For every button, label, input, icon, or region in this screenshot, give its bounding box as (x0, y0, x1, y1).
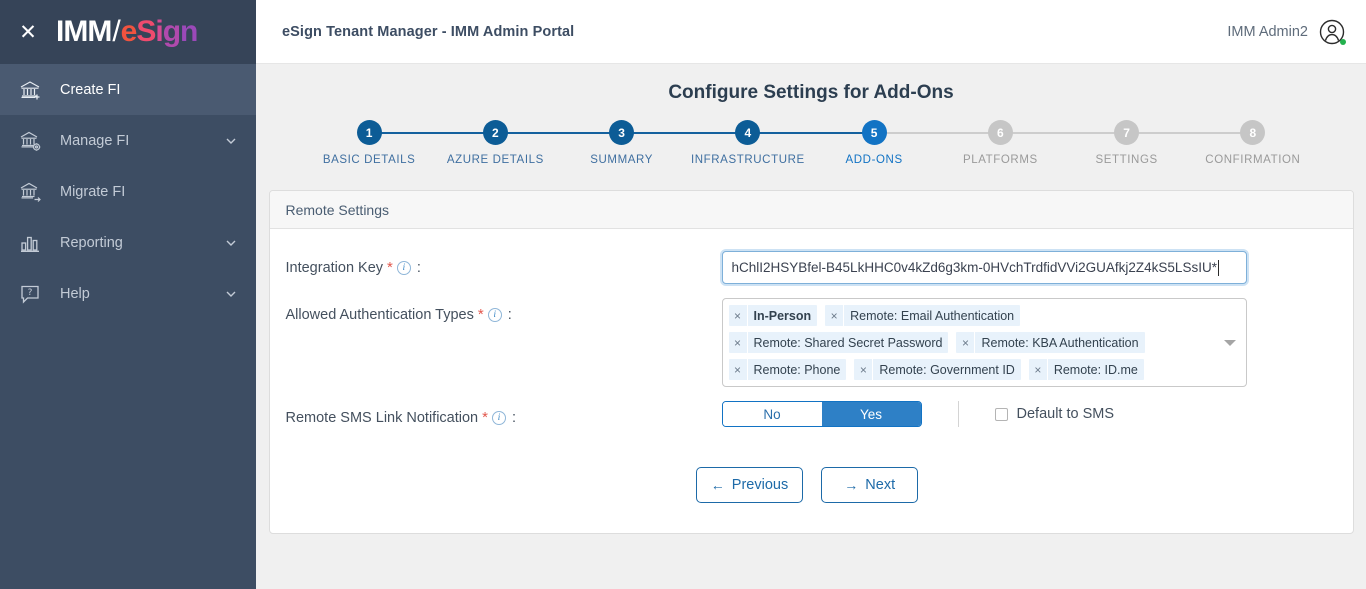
default-to-sms-checkbox[interactable] (995, 408, 1008, 421)
chevron-down-icon[interactable] (224, 134, 238, 148)
tag-item[interactable]: × Remote: Government ID (854, 359, 1020, 380)
form-row-auth-types: Allowed Authentication Types * i : × In-… (286, 298, 1329, 387)
label-colon: : (417, 260, 421, 276)
brand-logo: IMM/eSign (56, 17, 197, 47)
step-settings[interactable]: 7 SETTINGS (1064, 120, 1190, 166)
tag-label: Remote: Phone (747, 359, 847, 380)
auth-types-tag-list: × In-Person × Remote: Email Authenticati… (729, 305, 1218, 380)
sidebar-item-label: Migrate FI (60, 184, 238, 200)
step-basic-details[interactable]: 1 BASIC DETAILS (306, 120, 432, 166)
status-dot (1340, 39, 1346, 45)
step-number[interactable]: 4 (735, 120, 760, 145)
text-caret (1218, 260, 1219, 276)
previous-button-label: Previous (732, 477, 788, 493)
chevron-down-icon[interactable] (224, 236, 238, 250)
step-label: CONFIRMATION (1190, 154, 1316, 166)
sidebar-item-help[interactable]: ? Help (0, 268, 256, 319)
step-label: AZURE DETAILS (432, 154, 558, 166)
integration-key-input[interactable]: hChlI2HSYBfel-B45LkHHC0v4kZd6g3km-0HVchT… (722, 251, 1247, 284)
required-marker: * (477, 306, 485, 323)
tag-item[interactable]: × Remote: Email Authentication (825, 305, 1020, 326)
topbar-user-area: IMM Admin2 (1227, 18, 1346, 46)
tag-label: Remote: Government ID (872, 359, 1020, 380)
user-name-label: IMM Admin2 (1227, 24, 1308, 40)
brand-i: i (155, 17, 162, 47)
app-title: eSign Tenant Manager - IMM Admin Portal (282, 24, 574, 40)
info-icon[interactable]: i (488, 308, 502, 322)
sidebar: ✕ IMM/eSign Create FI (0, 0, 256, 589)
brand-e: e (121, 17, 137, 47)
step-confirmation[interactable]: 8 CONFIRMATION (1190, 120, 1316, 166)
step-label: BASIC DETAILS (306, 154, 432, 166)
previous-button[interactable]: ← Previous (696, 467, 803, 503)
tag-remove-icon[interactable]: × (729, 359, 747, 380)
step-summary[interactable]: 3 SUMMARY (559, 120, 685, 166)
vertical-divider (958, 401, 959, 427)
tag-label: Remote: KBA Authentication (974, 332, 1144, 353)
arrow-right-icon: → (844, 478, 858, 492)
label-colon: : (512, 410, 516, 426)
step-label: SETTINGS (1064, 154, 1190, 166)
tag-item[interactable]: × Remote: KBA Authentication (956, 332, 1144, 353)
integration-key-value: hChlI2HSYBfel-B45LkHHC0v4kZd6g3km-0HVchT… (732, 260, 1217, 275)
brand-n: n (180, 17, 197, 47)
tag-remove-icon[interactable]: × (854, 359, 872, 380)
tag-item[interactable]: × Remote: Shared Secret Password (729, 332, 949, 353)
required-marker: * (386, 259, 394, 276)
step-label: PLATFORMS (937, 154, 1063, 166)
tag-remove-icon[interactable]: × (729, 332, 747, 353)
bank-gear-icon (18, 128, 44, 154)
bank-arrow-icon (18, 179, 44, 205)
tag-item[interactable]: × Remote: ID.me (1029, 359, 1144, 380)
sms-toggle-group: No Yes (722, 401, 922, 427)
integration-key-field-wrap: hChlI2HSYBfel-B45LkHHC0v4kZd6g3km-0HVchT… (722, 251, 1329, 284)
card-body: Integration Key * i : hChlI2HSYBfel-B45L… (270, 229, 1353, 533)
step-number[interactable]: 3 (609, 120, 634, 145)
step-number[interactable]: 6 (988, 120, 1013, 145)
sms-toggle-yes[interactable]: Yes (822, 402, 921, 426)
bank-plus-icon (18, 77, 44, 103)
brand-slash: / (111, 17, 120, 47)
page-title: Configure Settings for Add-Ons (256, 64, 1366, 104)
content-area: Configure Settings for Add-Ons 1 BASIC D… (256, 64, 1366, 589)
tag-remove-icon[interactable]: × (1029, 359, 1047, 380)
sidebar-item-label: Manage FI (60, 133, 224, 149)
dropdown-caret-icon[interactable] (1224, 340, 1236, 346)
step-number[interactable]: 8 (1240, 120, 1265, 145)
brand-g: g (163, 17, 180, 47)
default-to-sms-checkbox-wrap[interactable]: Default to SMS (995, 406, 1115, 422)
user-circle-icon[interactable] (1318, 18, 1346, 46)
main-area: eSign Tenant Manager - IMM Admin Portal … (256, 0, 1366, 589)
required-marker: * (481, 409, 489, 426)
next-button[interactable]: → Next (821, 467, 918, 503)
tag-label: Remote: ID.me (1047, 359, 1144, 380)
topbar: eSign Tenant Manager - IMM Admin Portal … (256, 0, 1366, 64)
sidebar-item-create-fi[interactable]: Create FI (0, 64, 256, 115)
sidebar-item-label: Help (60, 286, 224, 302)
bar-chart-icon (18, 230, 44, 256)
chevron-down-icon[interactable] (224, 287, 238, 301)
step-label: SUMMARY (559, 154, 685, 166)
sidebar-item-migrate-fi[interactable]: Migrate FI (0, 166, 256, 217)
sms-toggle-no[interactable]: No (723, 402, 822, 426)
next-button-label: Next (865, 477, 895, 493)
integration-key-label: Integration Key (286, 260, 384, 276)
tag-item[interactable]: × In-Person (729, 305, 818, 326)
step-label: ADD-ONS (811, 154, 937, 166)
help-bubble-icon: ? (18, 281, 44, 307)
step-infrastructure[interactable]: 4 INFRASTRUCTURE (685, 120, 811, 166)
step-number[interactable]: 7 (1114, 120, 1139, 145)
sidebar-item-label: Reporting (60, 235, 224, 251)
tag-label: Remote: Shared Secret Password (747, 332, 949, 353)
sidebar-item-reporting[interactable]: Reporting (0, 217, 256, 268)
auth-types-field-wrap: × In-Person × Remote: Email Authenticati… (722, 298, 1329, 387)
sms-field-wrap: No Yes Default to SMS (722, 401, 1329, 427)
auth-types-multiselect[interactable]: × In-Person × Remote: Email Authenticati… (722, 298, 1247, 387)
step-azure-details[interactable]: 2 AZURE DETAILS (432, 120, 558, 166)
tag-label: In-Person (747, 305, 818, 326)
tag-remove-icon[interactable]: × (825, 305, 843, 326)
step-number[interactable]: 1 (357, 120, 382, 145)
sms-label-group: Remote SMS Link Notification * i : (286, 401, 722, 426)
remote-settings-card: Remote Settings Integration Key * i : hC… (269, 190, 1354, 534)
label-colon: : (508, 307, 512, 323)
step-number[interactable]: 2 (483, 120, 508, 145)
sidebar-header: ✕ IMM/eSign (0, 0, 256, 64)
form-row-sms-notification: Remote SMS Link Notification * i : No Ye… (286, 401, 1329, 427)
tag-remove-icon[interactable]: × (956, 332, 974, 353)
default-to-sms-label: Default to SMS (1017, 406, 1115, 422)
sidebar-item-manage-fi[interactable]: Manage FI (0, 115, 256, 166)
sidebar-item-label: Create FI (60, 82, 238, 98)
wizard-button-row: ← Previous → Next (286, 467, 1329, 503)
info-icon[interactable]: i (492, 411, 506, 425)
card-header-title: Remote Settings (270, 191, 1353, 229)
step-label: INFRASTRUCTURE (685, 154, 811, 166)
close-icon[interactable]: ✕ (14, 18, 42, 46)
integration-key-label-group: Integration Key * i : (286, 251, 722, 276)
sms-label: Remote SMS Link Notification (286, 410, 479, 426)
brand-imm: IMM (56, 17, 111, 47)
arrow-left-icon: ← (711, 478, 725, 492)
info-icon[interactable]: i (397, 261, 411, 275)
auth-types-label: Allowed Authentication Types (286, 307, 474, 323)
svg-text:?: ? (28, 288, 33, 298)
tag-item[interactable]: × Remote: Phone (729, 359, 847, 380)
brand-s: S (136, 17, 155, 47)
step-number[interactable]: 5 (862, 120, 887, 145)
form-row-integration-key: Integration Key * i : hChlI2HSYBfel-B45L… (286, 251, 1329, 284)
app-root: ✕ IMM/eSign Create FI (0, 0, 1366, 589)
wizard-stepper: 1 BASIC DETAILS 2 AZURE DETAILS 3 SUMMAR… (306, 120, 1316, 166)
tag-remove-icon[interactable]: × (729, 305, 747, 326)
auth-types-label-group: Allowed Authentication Types * i : (286, 298, 722, 323)
step-platforms[interactable]: 6 PLATFORMS (937, 120, 1063, 166)
tag-label: Remote: Email Authentication (843, 305, 1020, 326)
step-add-ons[interactable]: 5 ADD-ONS (811, 120, 937, 166)
